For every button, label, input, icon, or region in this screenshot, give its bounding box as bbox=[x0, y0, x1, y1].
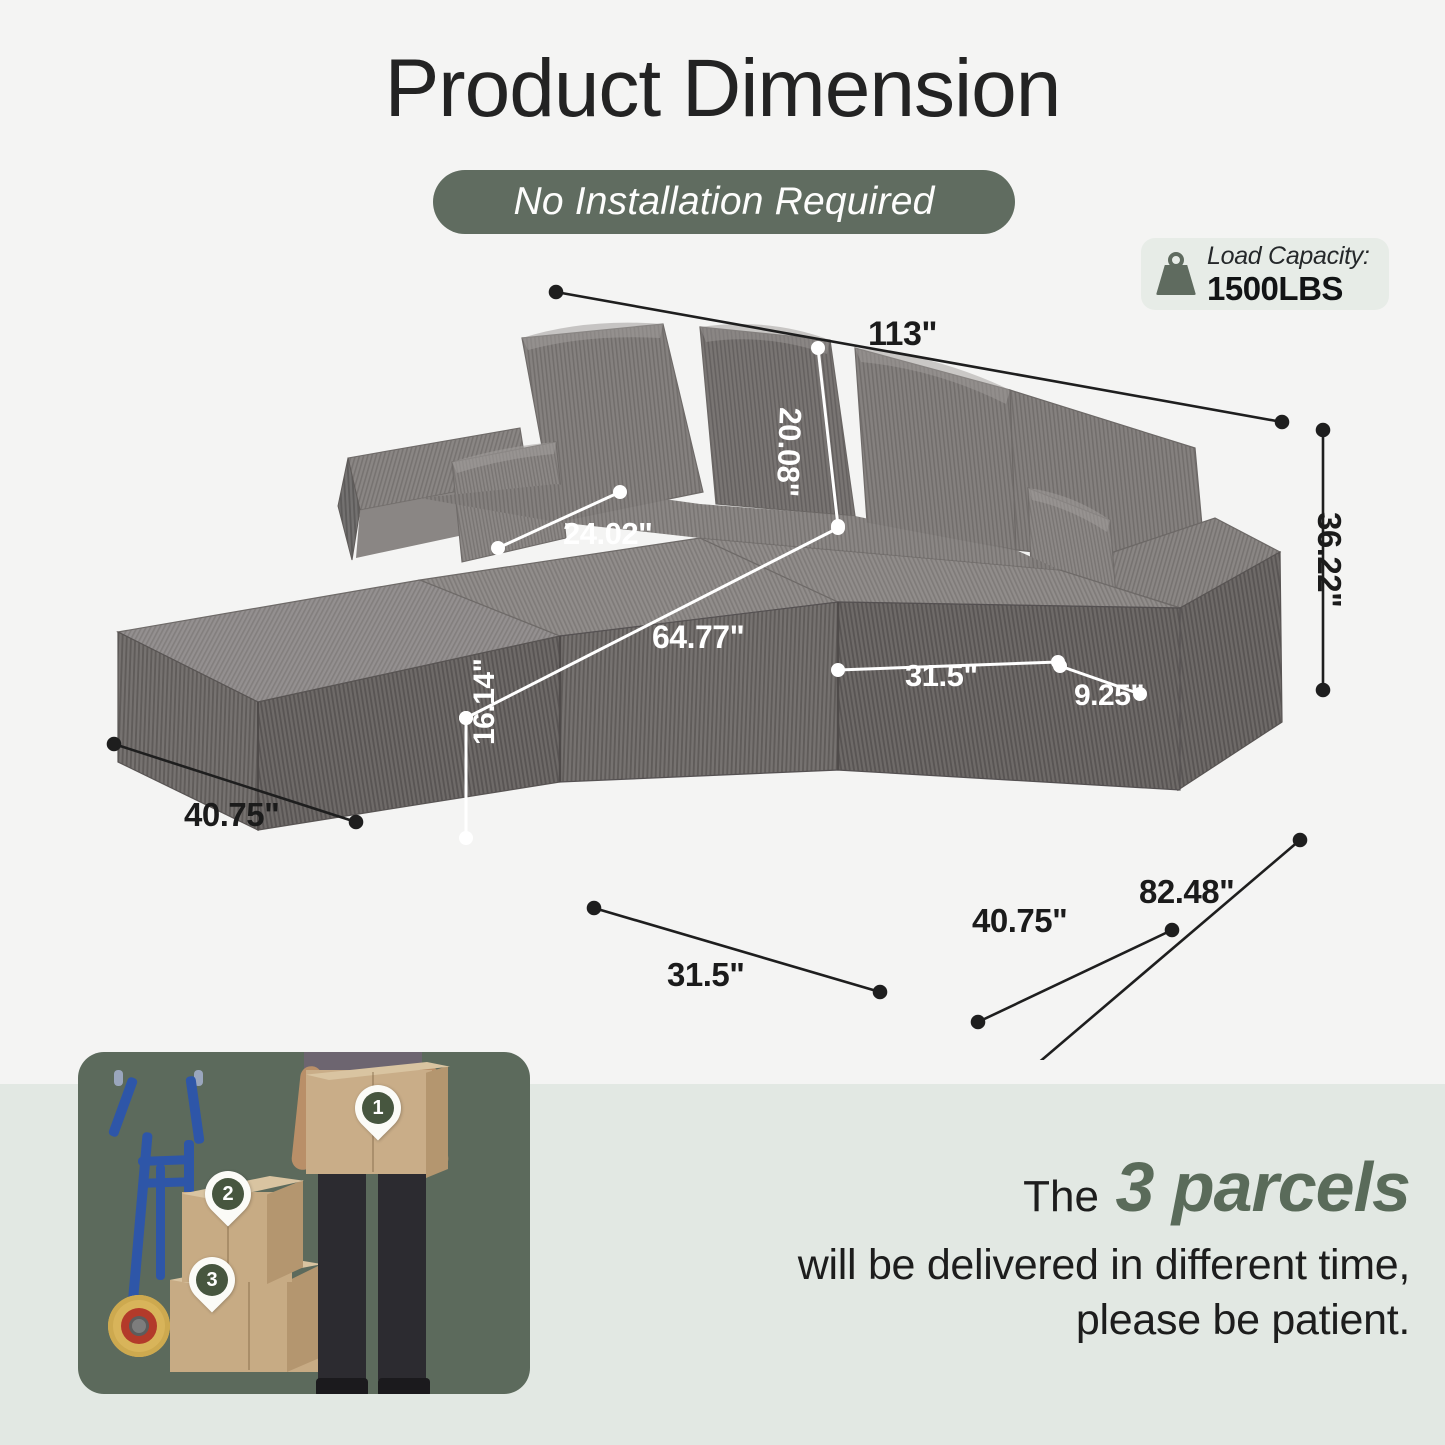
parcel-marker-1: 1 bbox=[355, 1085, 401, 1143]
delivery-note-prefix: The bbox=[1023, 1172, 1099, 1221]
parcel-marker-2: 2 bbox=[205, 1171, 251, 1229]
hand-truck-wheel bbox=[108, 1295, 170, 1357]
dim-overall-depth: 82.48" bbox=[1139, 873, 1234, 911]
infographic-canvas: Product Dimension No Installation Requir… bbox=[0, 0, 1445, 1445]
person-shoe-left bbox=[316, 1378, 368, 1394]
sofa-illustration bbox=[0, 270, 1445, 1060]
parcel-marker-3: 3 bbox=[189, 1257, 235, 1315]
dim-bed-length: 64.77" bbox=[652, 619, 744, 656]
dim-seat-width-right: 31.5" bbox=[905, 658, 978, 694]
person-leg-right bbox=[378, 1170, 426, 1382]
dim-overall-height: 36.22" bbox=[1310, 512, 1348, 607]
hand-truck-handle-left bbox=[108, 1076, 139, 1138]
dim-module-depth-left: 40.75" bbox=[184, 796, 279, 834]
dim-seat-height: 16.14" bbox=[468, 659, 502, 745]
hand-truck-spine bbox=[156, 1164, 165, 1280]
load-capacity-label: Load Capacity: bbox=[1207, 244, 1370, 269]
dim-module-depth-right: 40.75" bbox=[972, 902, 1067, 940]
hand-truck-grip-left bbox=[114, 1070, 123, 1086]
hand-truck-handle-right bbox=[185, 1076, 204, 1145]
person-shoe-right bbox=[378, 1378, 430, 1394]
no-installation-label: No Installation Required bbox=[513, 180, 934, 224]
person-leg-left bbox=[318, 1170, 366, 1382]
dim-back-cushion-h: 20.08" bbox=[769, 407, 808, 497]
delivery-photo: 1 2 3 bbox=[78, 1052, 530, 1394]
hand-truck-crossbar-2 bbox=[140, 1177, 194, 1188]
dim-overall-width: 113" bbox=[868, 315, 937, 354]
dim-armrest-width: 9.25" bbox=[1074, 679, 1144, 713]
delivery-note-line2: will be delivered in different time, bbox=[640, 1238, 1410, 1293]
dim-seat-depth: 24.02" bbox=[563, 516, 652, 552]
page-title: Product Dimension bbox=[0, 48, 1445, 130]
dim-module-width-bottom: 31.5" bbox=[667, 956, 744, 994]
back-cushion-right bbox=[855, 348, 1016, 550]
delivery-note: The 3 parcels will be delivered in diffe… bbox=[640, 1152, 1410, 1348]
no-installation-badge: No Installation Required bbox=[433, 170, 1015, 234]
delivery-note-highlight: 3 parcels bbox=[1115, 1148, 1410, 1226]
delivery-note-line3: please be patient. bbox=[640, 1293, 1410, 1348]
